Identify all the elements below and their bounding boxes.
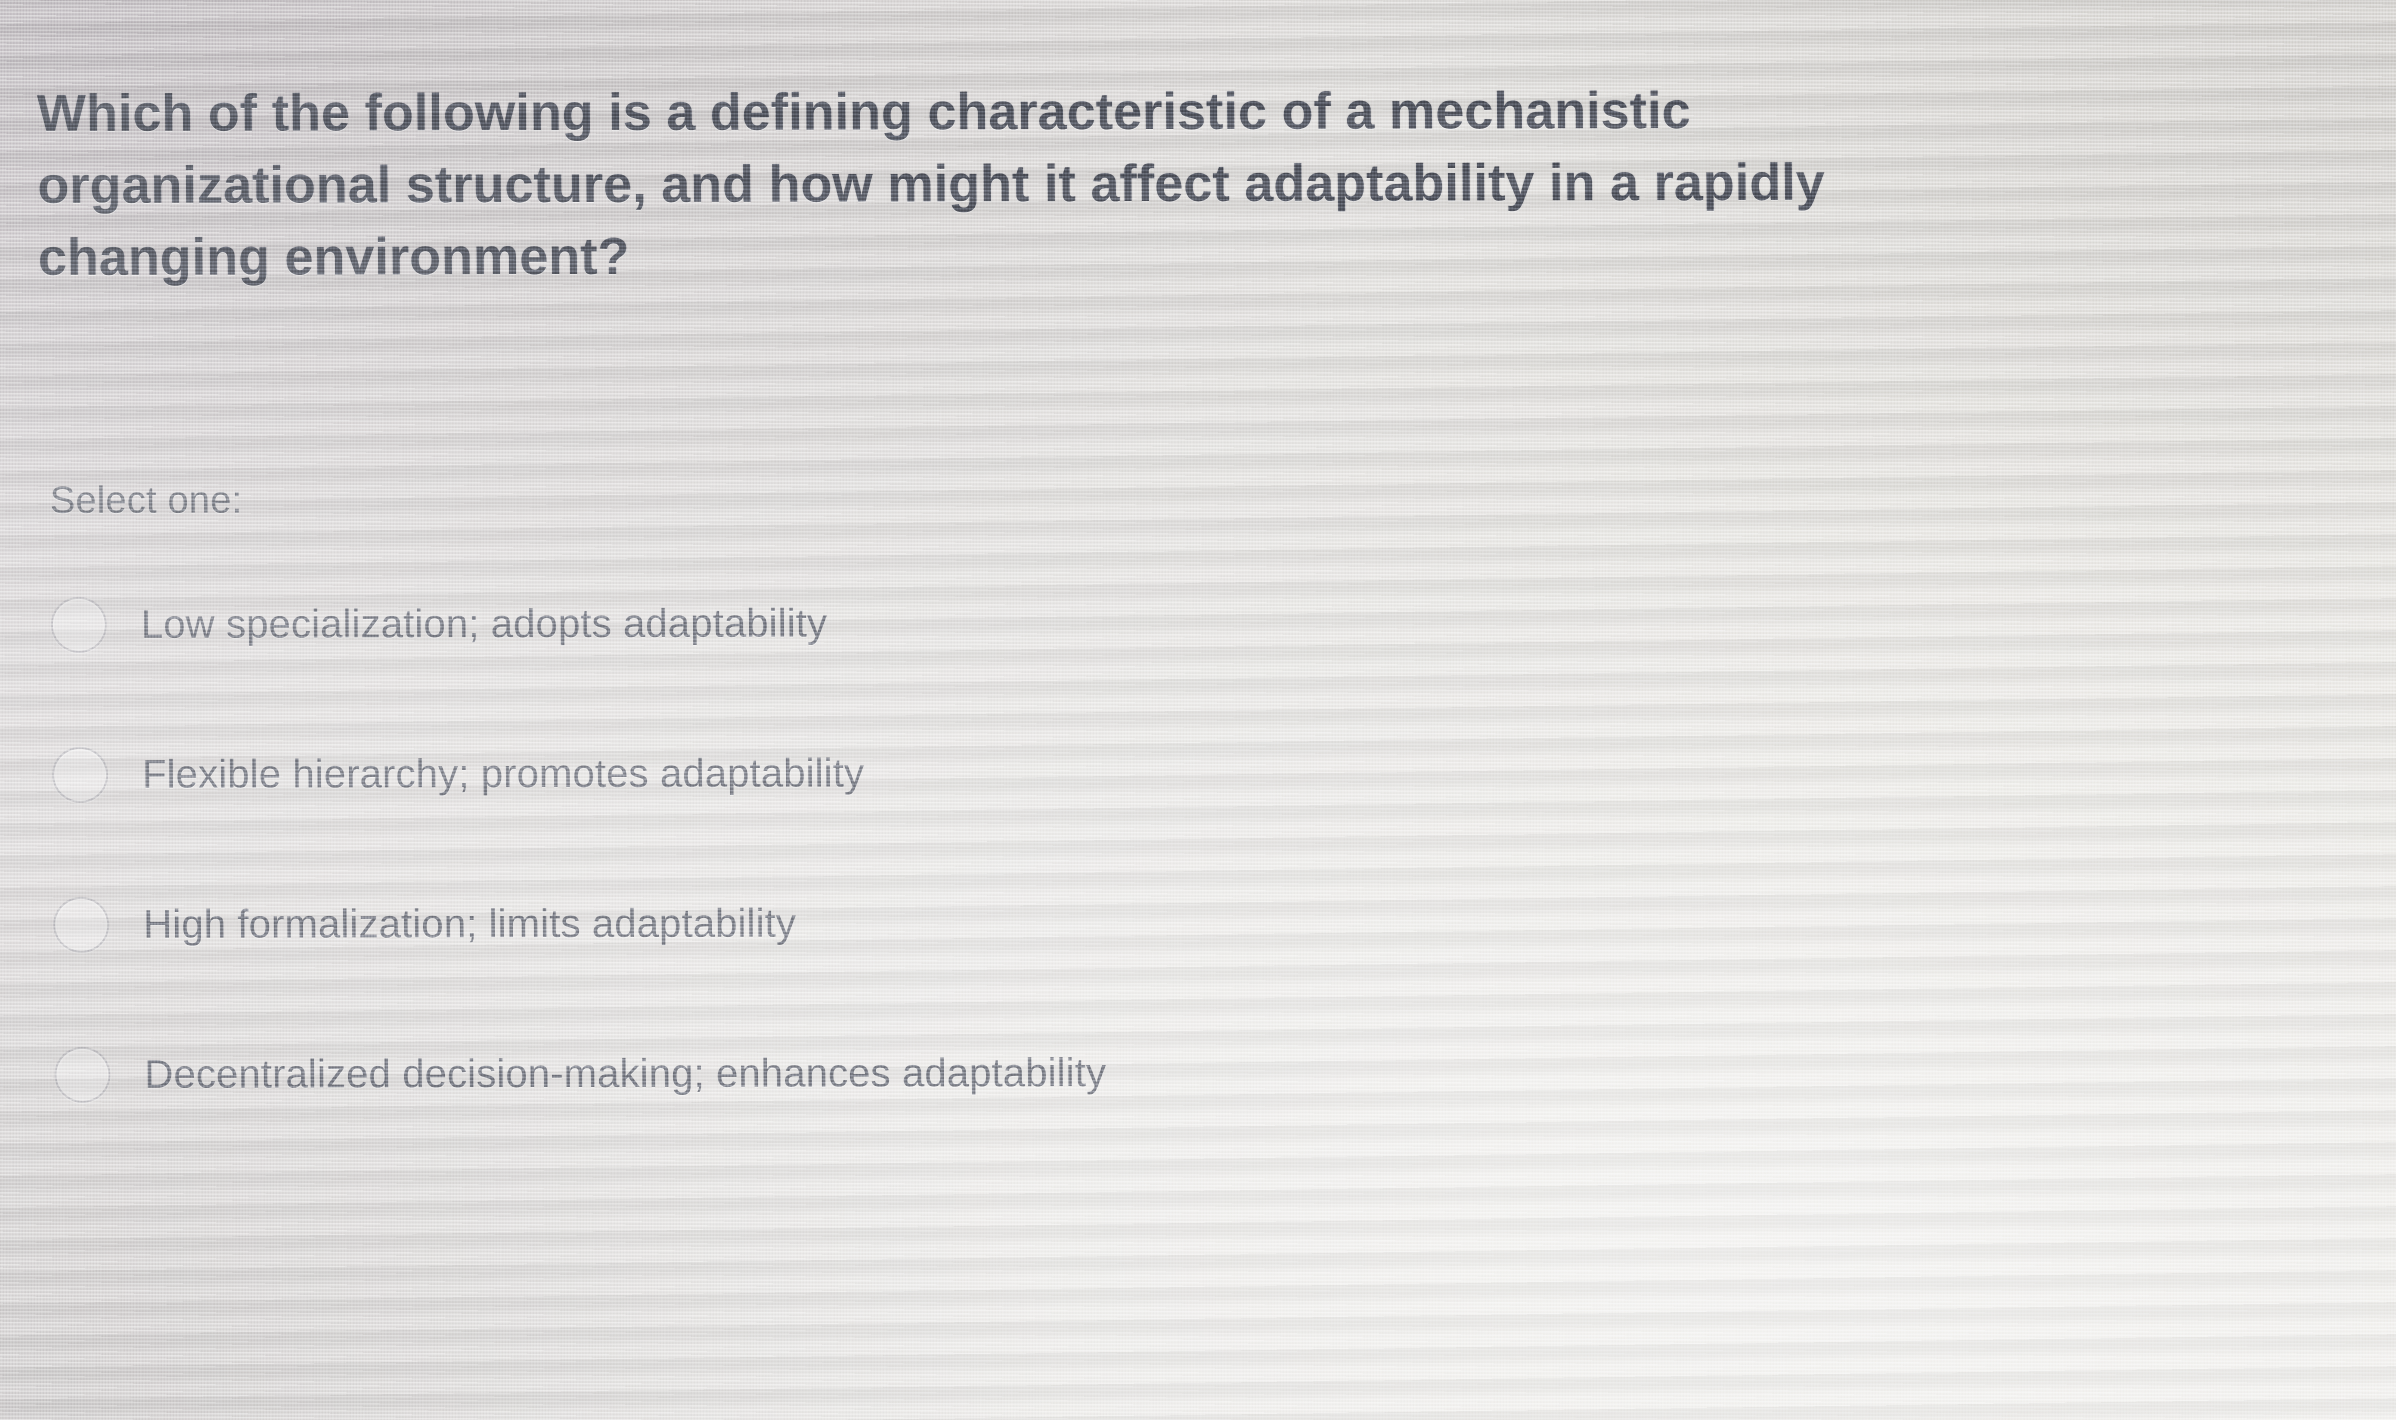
radio-button-icon-4[interactable] [54,1047,110,1103]
answer-option-4[interactable]: Decentralized decision-making; enhances … [54,1034,2255,1112]
answer-options-group: Low specialization; adopts adaptability … [51,584,2255,1112]
select-one-label: Select one: [50,480,243,523]
screen-photo: Which of the following is a defining cha… [0,0,2396,1420]
question-line-2: organizational structure, and how might … [37,146,2328,222]
answer-option-label-1: Low specialization; adopts adaptability [141,601,828,647]
answer-option-label-3: High formalization; limits adaptability [143,901,796,947]
answer-option-3[interactable]: High formalization; limits adaptability [53,884,2254,962]
answer-option-2[interactable]: Flexible hierarchy; promotes adaptabilit… [52,734,2253,812]
question-line-1: Which of the following is a defining cha… [37,74,2328,150]
answer-option-1[interactable]: Low specialization; adopts adaptability [51,584,2252,662]
quiz-question-panel: Which of the following is a defining cha… [0,0,2396,1420]
question-text: Which of the following is a defining cha… [37,74,2329,294]
radio-button-icon-3[interactable] [53,897,109,953]
question-line-3: changing environment? [38,218,2329,294]
answer-option-label-2: Flexible hierarchy; promotes adaptabilit… [142,751,864,797]
radio-button-icon-2[interactable] [52,747,108,803]
radio-button-icon-1[interactable] [51,597,107,653]
answer-option-label-4: Decentralized decision-making; enhances … [144,1051,1106,1098]
